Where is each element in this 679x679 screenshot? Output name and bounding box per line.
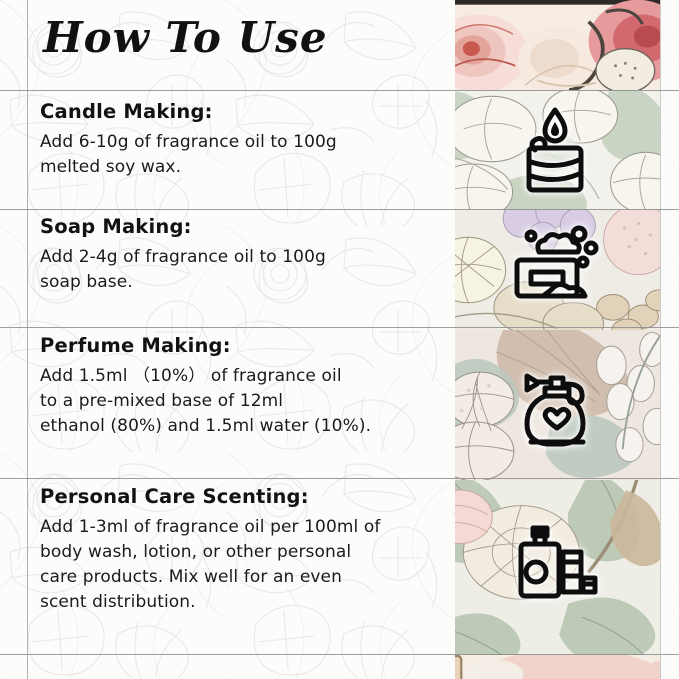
section-perfume-making: Perfume Making: Add 1.5ml （10%） of fragr… (0, 334, 455, 439)
photo-band-roses (455, 0, 660, 90)
body-line: Add 1-3ml of fragrance oil per 100ml of (40, 515, 445, 540)
photo-band-bottom (455, 655, 660, 679)
page-title: How To Use (43, 13, 328, 62)
decorative-photo-strip (455, 0, 660, 679)
section-soap-making: Soap Making: Add 2-4g of fragrance oil t… (0, 215, 455, 295)
body-line: soap base. (40, 270, 445, 295)
perfume-bottle-icon (505, 356, 605, 456)
lotion-bottle-icon (505, 510, 605, 610)
section-body: Add 6-10g of fragrance oil to 100g melte… (40, 130, 445, 180)
section-heading: Candle Making: (40, 100, 445, 123)
instructions-column: How To Use Candle Making: Add 6-10g of f… (0, 0, 455, 679)
body-line: melted soy wax. (40, 155, 445, 180)
section-heading: Personal Care Scenting: (40, 485, 445, 508)
left-vertical-rule (27, 0, 28, 679)
section-body: Add 1.5ml （10%） of fragrance oil to a pr… (40, 364, 445, 439)
body-line: care products. Mix well for an even (40, 565, 445, 590)
divider-candle-soap (0, 209, 679, 210)
section-heading: Perfume Making: (40, 334, 445, 357)
section-personal-care-scenting: Personal Care Scenting: Add 1-3ml of fra… (0, 485, 455, 615)
divider-perfume-personal (0, 478, 679, 479)
section-body: Add 2-4g of fragrance oil to 100g soap b… (40, 245, 445, 295)
right-edge-texture (660, 0, 679, 679)
body-line: scent distribution. (40, 590, 445, 615)
body-line: body wash, lotion, or other personal (40, 540, 445, 565)
title-band: How To Use (0, 0, 455, 90)
section-body: Add 1-3ml of fragrance oil per 100ml of … (40, 515, 445, 615)
right-vertical-rule (660, 0, 661, 679)
body-line: Add 1.5ml （10%） of fragrance oil (40, 364, 445, 389)
soap-bar-icon (505, 216, 605, 316)
divider-bottom (0, 654, 679, 655)
section-heading: Soap Making: (40, 215, 445, 238)
divider-soap-perfume (0, 327, 679, 328)
body-line: to a pre-mixed base of 12ml (40, 389, 445, 414)
body-line: ethanol (80%) and 1.5ml water (10%). (40, 414, 445, 439)
body-line: Add 2-4g of fragrance oil to 100g (40, 245, 445, 270)
divider-title (0, 90, 679, 91)
section-candle-making: Candle Making: Add 6-10g of fragrance oi… (0, 100, 455, 180)
candle-icon (505, 100, 605, 200)
how-to-use-infographic: How To Use Candle Making: Add 6-10g of f… (0, 0, 679, 679)
body-line: Add 6-10g of fragrance oil to 100g (40, 130, 445, 155)
